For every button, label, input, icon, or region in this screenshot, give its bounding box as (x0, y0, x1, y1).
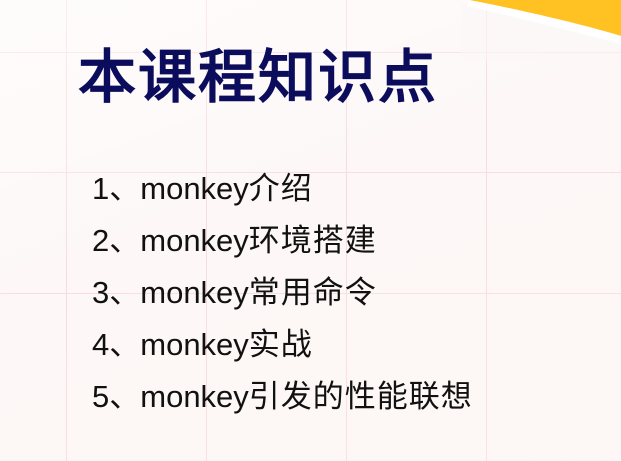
list-item-label: 实战 (249, 327, 313, 362)
list-item: 2、monkey环境搭建 (92, 215, 592, 267)
list-item-latin: monkey (140, 275, 249, 310)
list-item-index: 1、 (92, 171, 140, 206)
list-item-latin: monkey (140, 223, 249, 258)
topic-list: 1、monkey介绍 2、monkey环境搭建 3、monkey常用命令 4、m… (92, 163, 592, 423)
list-item: 3、monkey常用命令 (92, 267, 592, 319)
list-item: 5、monkey引发的性能联想 (92, 371, 592, 423)
list-item-latin: monkey (140, 379, 249, 414)
list-item-index: 4、 (92, 327, 140, 362)
list-item-index: 3、 (92, 275, 140, 310)
ribbon-icon (461, 0, 621, 60)
list-item-index: 2、 (92, 223, 140, 258)
list-item-latin: monkey (140, 171, 249, 206)
list-item-label: 环境搭建 (249, 223, 377, 258)
presentation-slide: 本课程知识点 1、monkey介绍 2、monkey环境搭建 3、monkey常… (0, 0, 621, 461)
list-item-label: 常用命令 (249, 275, 377, 310)
page-title: 本课程知识点 (78, 48, 438, 109)
list-item-latin: monkey (140, 327, 249, 362)
grid-line-vertical (66, 0, 67, 461)
list-item: 1、monkey介绍 (92, 163, 592, 215)
list-item-label: 引发的性能联想 (249, 379, 473, 414)
list-item-index: 5、 (92, 379, 140, 414)
list-item: 4、monkey实战 (92, 319, 592, 371)
list-item-label: 介绍 (249, 171, 313, 206)
corner-ribbon-decoration (461, 0, 621, 60)
